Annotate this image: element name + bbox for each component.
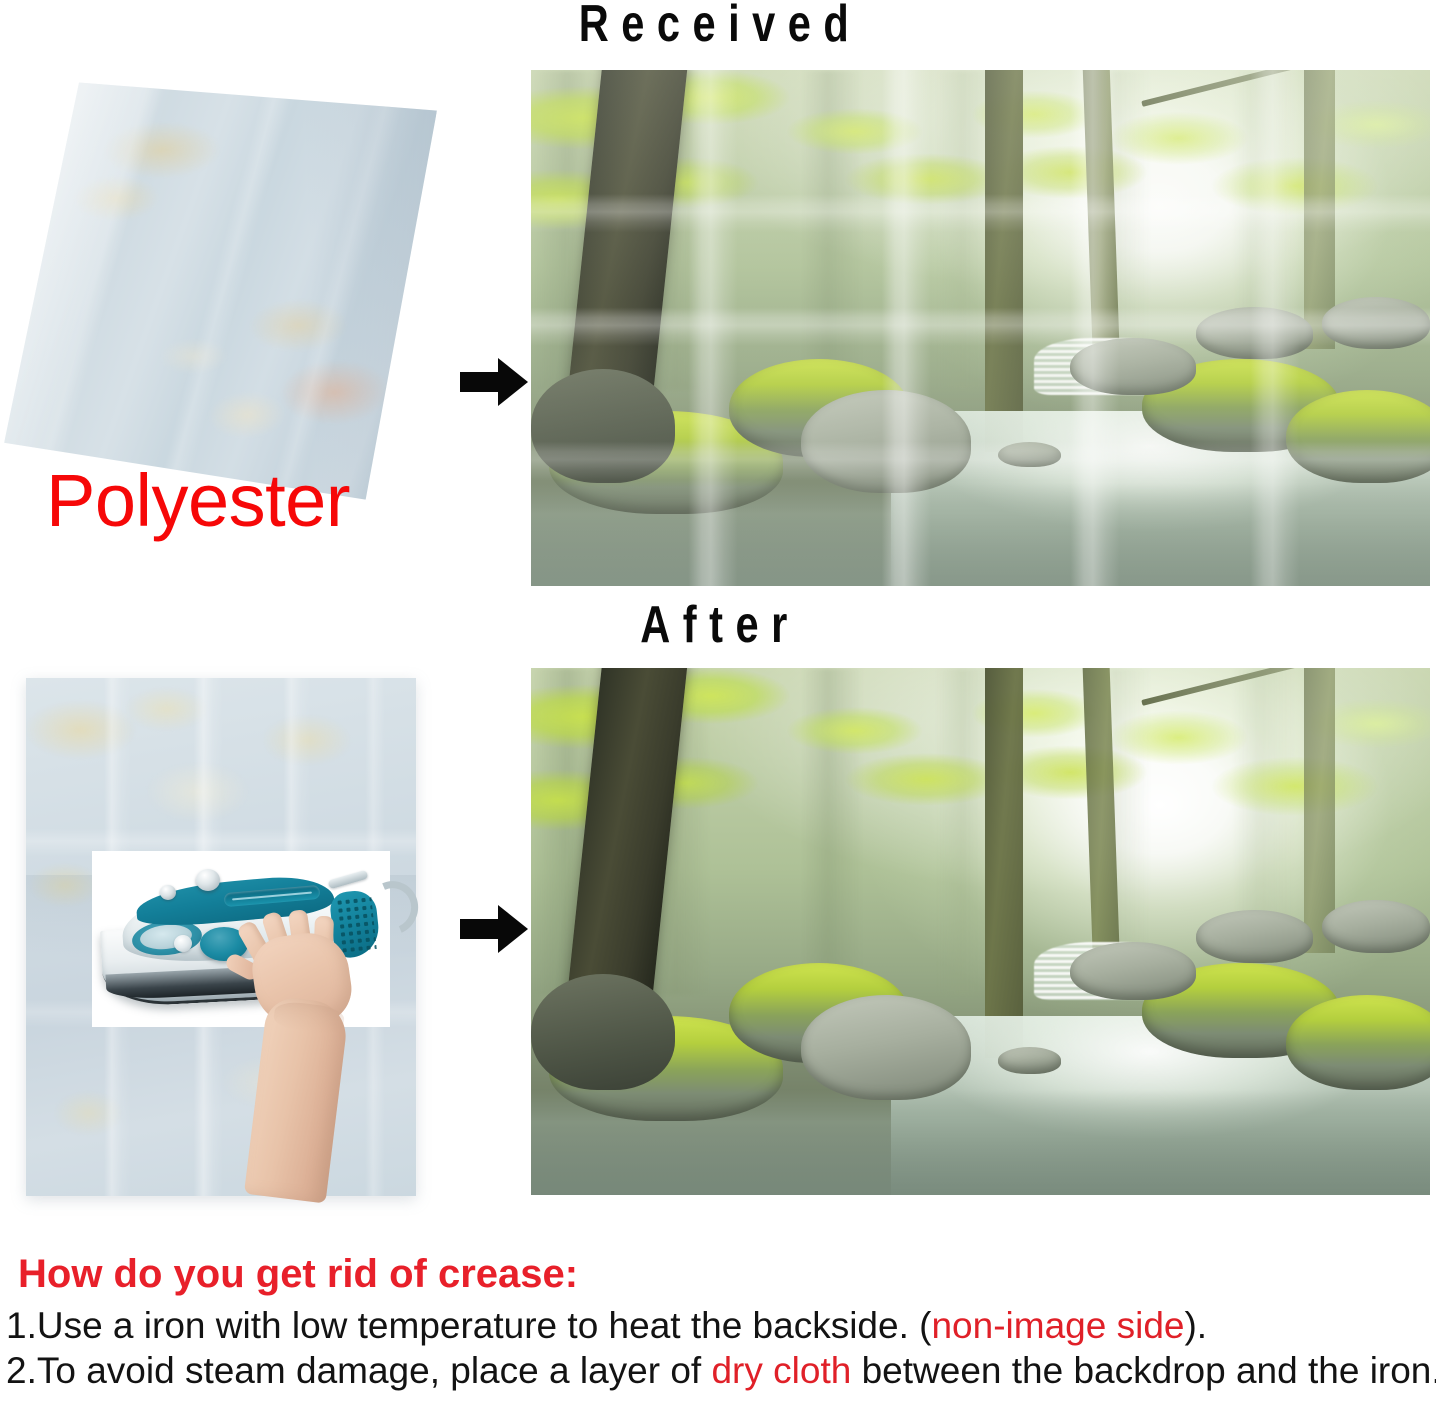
grey-rock [801,995,972,1100]
received-photo [531,70,1430,586]
grey-rock [1196,307,1313,359]
forest-trunk-4 [1304,70,1335,349]
step-2-text-b: between the backdrop and the iron. [851,1350,1436,1391]
hand-image [248,934,388,1198]
howto-step-1: 1.Use a iron with low temperature to hea… [6,1305,1207,1347]
iron-steam-knob [196,869,220,891]
step-1-text-b: ). [1184,1305,1207,1346]
grey-rock [1322,297,1430,349]
grey-rock [1196,910,1313,963]
grey-rock [801,390,972,493]
arrow-shaft [460,372,502,392]
dark-rock [531,974,675,1090]
step-2-text-a: To avoid steam damage, place a layer of [37,1350,712,1391]
fabric-roll-shading [0,82,440,500]
iron-spray-button [174,935,192,952]
received-heading: Received [432,0,1008,52]
arrow-head [498,358,528,406]
step-1-text-a: Use a iron with low temperature to heat … [37,1305,932,1346]
forest-trunk-2 [985,70,1023,452]
forest-trunk-2 [985,668,1023,1058]
step-2-number: 2. [6,1350,37,1391]
arrow-head [498,905,528,953]
mossy-rock [1286,995,1430,1090]
mossy-rock [1286,390,1430,483]
polyester-label: Polyester [46,462,350,540]
arrow-shaft [460,919,502,939]
howto-heading: How do you get rid of crease: [18,1252,578,1296]
dark-rock [531,369,675,483]
grey-rock [998,442,1061,468]
grey-rock [1070,942,1196,1000]
fabric-roll-image [0,82,440,500]
iron-small-knob [160,885,176,900]
right-arrow-icon [460,358,530,406]
after-heading: After [448,597,992,653]
howto-step-2: 2.To avoid steam damage, place a layer o… [6,1350,1436,1392]
step-2-highlight: dry cloth [711,1350,851,1391]
grey-rock [998,1047,1061,1073]
forest-trunk-4 [1304,668,1335,953]
iron-cord-clip [328,870,369,890]
step-1-number: 1. [6,1305,37,1346]
right-arrow-icon [460,905,530,953]
step-1-highlight: non-image side [931,1305,1184,1346]
grey-rock [1322,900,1430,953]
after-photo [531,668,1430,1195]
grey-rock [1070,338,1196,395]
